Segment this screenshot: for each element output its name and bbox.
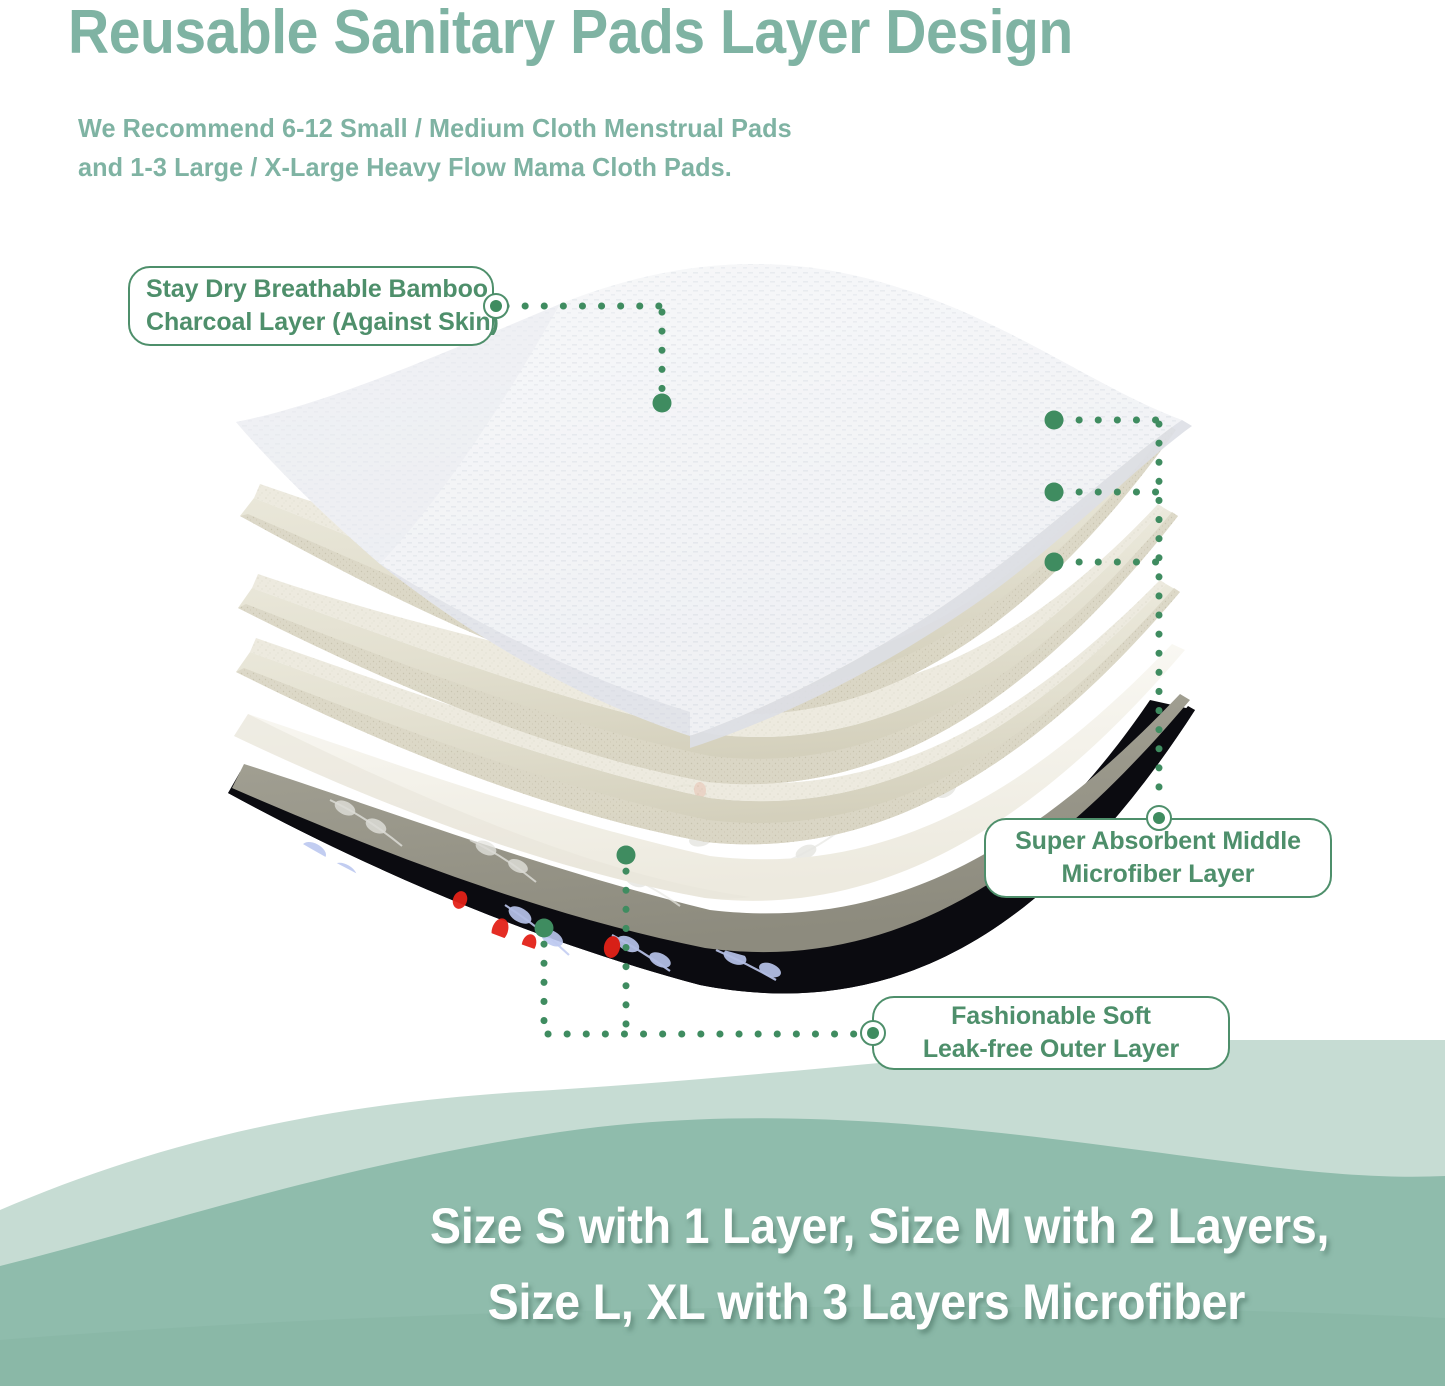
callout-bamboo-charcoal-layer: Stay Dry Breathable Bamboo Charcoal Laye… xyxy=(128,266,494,346)
callout-outer-layer: Fashionable Soft Leak-free Outer Layer xyxy=(872,996,1230,1070)
pad-layer-illustration: Stay Dry Breathable Bamboo Charcoal Laye… xyxy=(0,0,1445,1120)
banner-text-block: Size S with 1 Layer, Size M with 2 Layer… xyxy=(430,1188,1440,1340)
dot-microfiber-3 xyxy=(1045,553,1064,572)
dot-microfiber-1 xyxy=(1045,411,1064,430)
dot-microfiber-2 xyxy=(1045,483,1064,502)
dot-outer-black xyxy=(535,919,554,938)
dot-bamboo xyxy=(653,394,672,413)
callout-outer-line-1: Fashionable Soft xyxy=(886,1000,1216,1033)
bottom-banner: Size S with 1 Layer, Size M with 2 Layer… xyxy=(0,1040,1445,1386)
banner-line-2: Size L, XL with 3 Layers Microfiber xyxy=(430,1264,1369,1340)
callout-bamboo-line-2: Charcoal Layer (Against Skin) xyxy=(146,306,478,339)
connector-knob-bamboo xyxy=(483,293,509,319)
callout-outer-line-2: Leak-free Outer Layer xyxy=(886,1033,1216,1066)
layer-stack-diagram xyxy=(0,0,1445,1120)
callout-microfiber-line-2: Microfiber Layer xyxy=(998,858,1318,891)
callout-bamboo-line-1: Stay Dry Breathable Bamboo xyxy=(146,273,478,306)
connector-knob-outer xyxy=(860,1020,886,1046)
banner-line-1: Size S with 1 Layer, Size M with 2 Layer… xyxy=(430,1188,1369,1264)
connector-knob-microfiber xyxy=(1146,805,1172,831)
dot-outer-grey xyxy=(617,846,636,865)
